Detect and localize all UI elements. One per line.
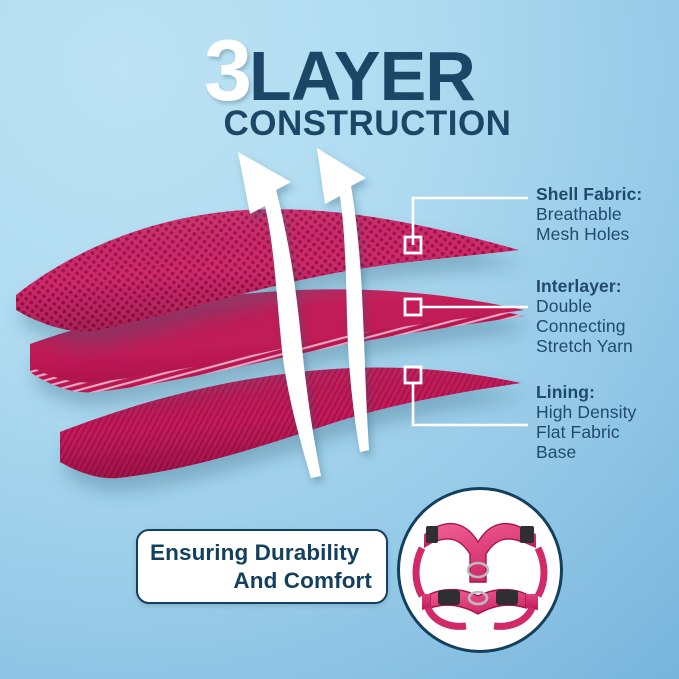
callout-line-2: Mesh Holes	[536, 225, 642, 245]
callout-heading: Shell Fabric:	[536, 185, 642, 205]
tagline-line-1: Ensuring Durability	[150, 540, 372, 566]
harness-chest-pad	[434, 524, 522, 582]
callout-heading: Interlayer:	[536, 277, 633, 297]
callout-shell-fabric: Shell Fabric: Breathable Mesh Holes	[536, 185, 642, 245]
harness-webbing-right	[538, 548, 544, 596]
callout-line-3: Base	[536, 443, 636, 463]
callout-heading: Lining:	[536, 383, 636, 403]
harness-buckle-top-left	[426, 526, 438, 543]
harness-strap-lower-right	[526, 594, 538, 610]
harness-buckle-right	[496, 590, 518, 605]
callout-line-1: High Density	[536, 403, 636, 423]
callout-interlayer: Interlayer: Double Connecting Stretch Ya…	[536, 277, 633, 357]
pink-dog-harness-illustration	[400, 490, 560, 650]
harness-bottom-strap-right	[494, 608, 532, 626]
product-image-circle	[397, 487, 563, 653]
harness-bottom-strap-left	[428, 608, 466, 626]
harness-buckle-top-right	[520, 526, 534, 543]
tagline-banner: Ensuring Durability And Comfort	[136, 529, 388, 604]
callout-line-1: Double	[536, 297, 633, 317]
callout-line-2: Flat Fabric	[536, 423, 636, 443]
harness-buckle-left	[438, 590, 460, 605]
harness-strap-lower-left	[422, 594, 430, 610]
callout-line-3: Stretch Yarn	[536, 337, 633, 357]
callout-line-1: Breathable	[536, 205, 642, 225]
infographic-canvas: 3LAYER CONSTRUCTION	[0, 0, 679, 679]
callout-line-2: Connecting	[536, 317, 633, 337]
callout-lining: Lining: High Density Flat Fabric Base	[536, 383, 636, 463]
harness-webbing-left	[416, 548, 422, 596]
tagline-line-2: And Comfort	[150, 568, 372, 594]
